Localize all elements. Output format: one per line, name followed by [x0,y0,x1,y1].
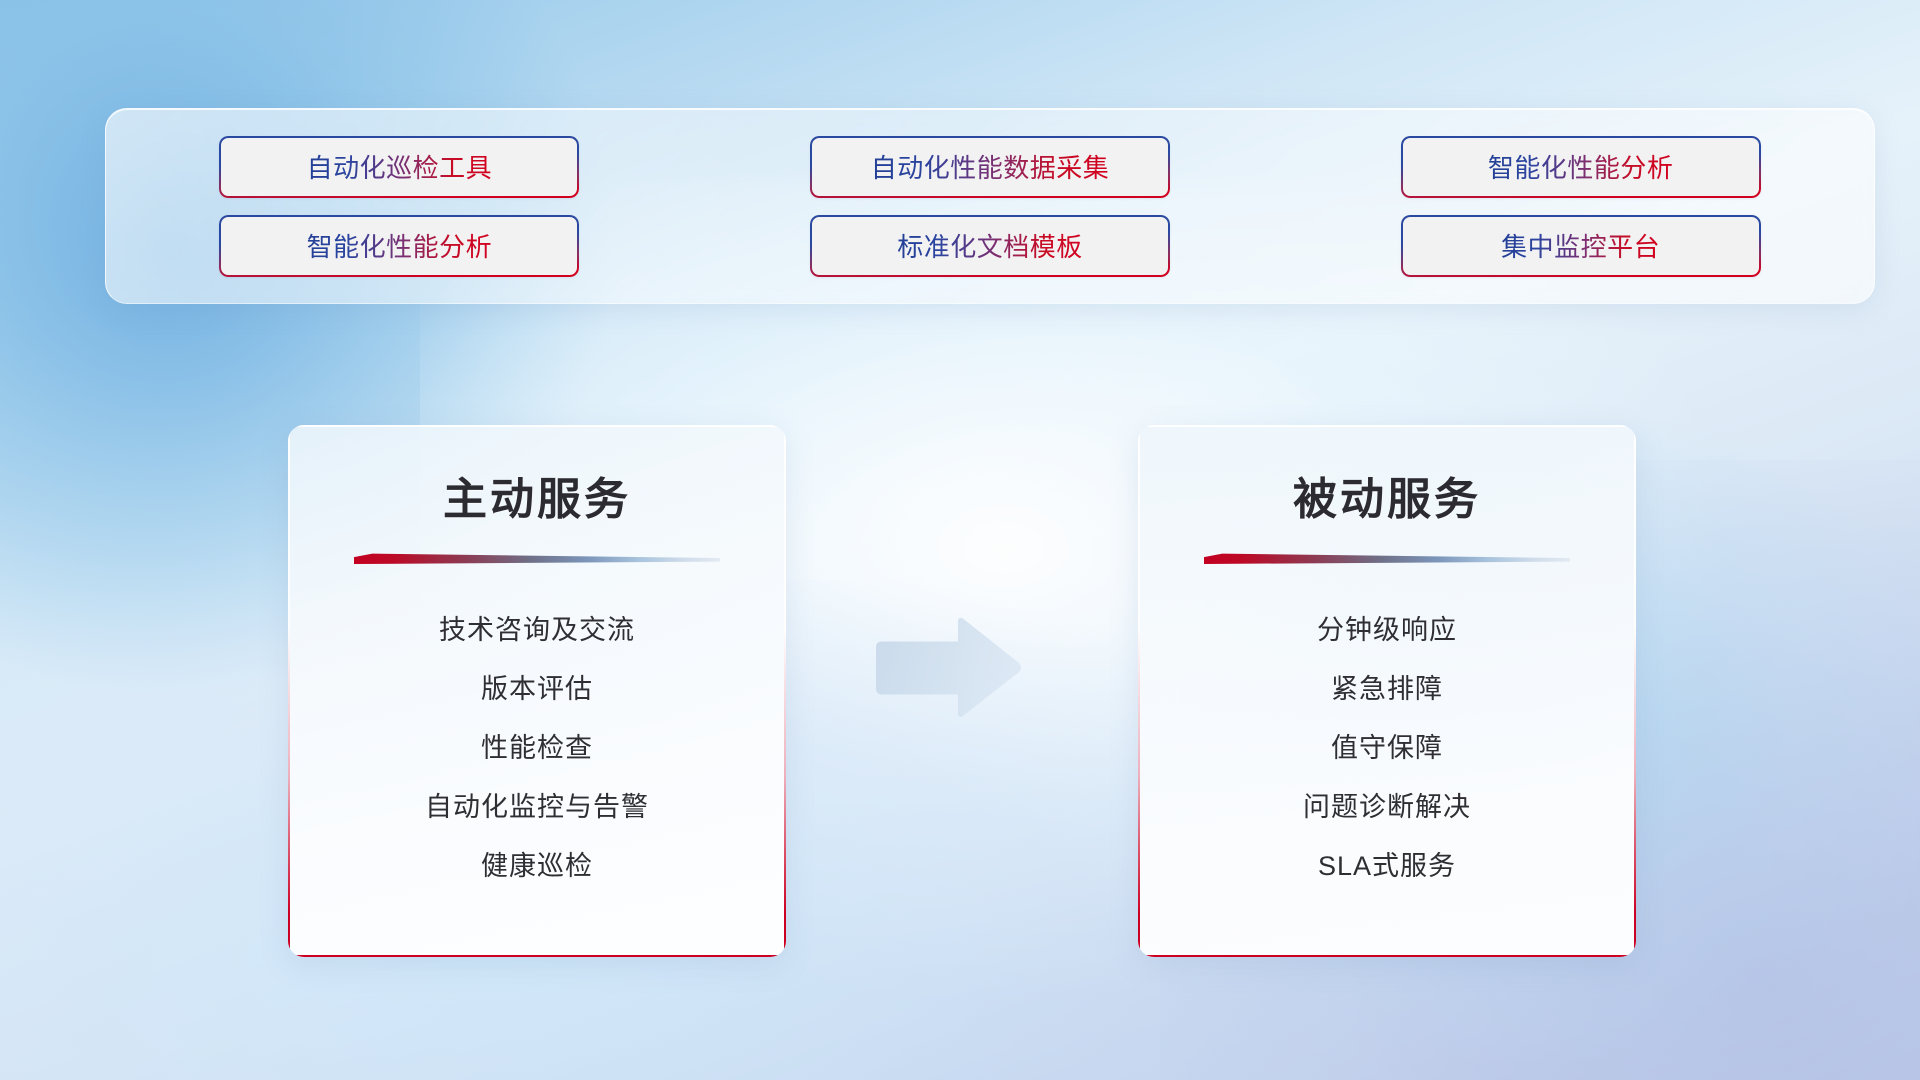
capability-chip-6[interactable]: 集中监控平台 [1401,215,1761,277]
card-edge-right [784,425,786,957]
capability-chip-label: 标准化文档模板 [897,227,1083,264]
card-title: 主动服务 [288,463,786,527]
list-item: 分钟级响应 [1317,598,1457,657]
list-item: SLA式服务 [1318,834,1456,893]
card-edge-left [288,425,290,957]
capability-chip-label: 智能化性能分析 [1488,148,1674,185]
list-item: 紧急排障 [1331,657,1443,716]
list-item: 自动化监控与告警 [425,775,649,834]
list-item: 值守保障 [1331,716,1443,775]
capability-chip-4[interactable]: 智能化性能分析 [219,215,579,277]
card-divider-bar [354,553,720,564]
service-list-active: 技术咨询及交流 版本评估 性能检查 自动化监控与告警 健康巡检 [288,598,786,893]
card-edge-left [1138,425,1140,957]
card-divider-bar [1204,553,1570,564]
card-edge-top [1138,425,1636,427]
service-card-passive: 被动服务 分钟级响应 紧急排障 值守保障 问题诊断解决 SLA式服务 [1138,425,1636,957]
capability-chip-5[interactable]: 标准化文档模板 [810,215,1170,277]
capability-chip-label: 智能化性能分析 [307,227,493,264]
capability-chip-label: 集中监控平台 [1501,227,1660,264]
arrow-right-icon [872,614,1024,722]
card-edge-bottom [1138,955,1636,957]
list-item: 技术咨询及交流 [439,598,635,657]
card-title: 被动服务 [1138,463,1636,527]
card-edge-top [288,425,786,427]
list-item: 问题诊断解决 [1303,775,1471,834]
card-divider [354,553,720,564]
capability-grid: 自动化巡检工具 自动化性能数据采集 智能化性能分析 智能化性能分析 标准化文档模… [184,135,1796,277]
capability-panel: 自动化巡检工具 自动化性能数据采集 智能化性能分析 智能化性能分析 标准化文档模… [105,108,1875,304]
service-card-active: 主动服务 技术咨询及交流 版本评估 性能检查 自动化监控与告警 健康巡检 [288,425,786,957]
card-divider [1204,553,1570,564]
capability-chip-label: 自动化性能数据采集 [871,148,1110,185]
list-item: 健康巡检 [481,834,593,893]
card-edge-right [1634,425,1636,957]
service-list-passive: 分钟级响应 紧急排障 值守保障 问题诊断解决 SLA式服务 [1138,598,1636,893]
capability-chip-3[interactable]: 智能化性能分析 [1401,136,1761,198]
capability-chip-1[interactable]: 自动化巡检工具 [219,136,579,198]
card-edge-bottom [288,955,786,957]
list-item: 性能检查 [481,716,593,775]
list-item: 版本评估 [481,657,593,716]
capability-chip-label: 自动化巡检工具 [307,148,493,185]
capability-chip-2[interactable]: 自动化性能数据采集 [810,136,1170,198]
